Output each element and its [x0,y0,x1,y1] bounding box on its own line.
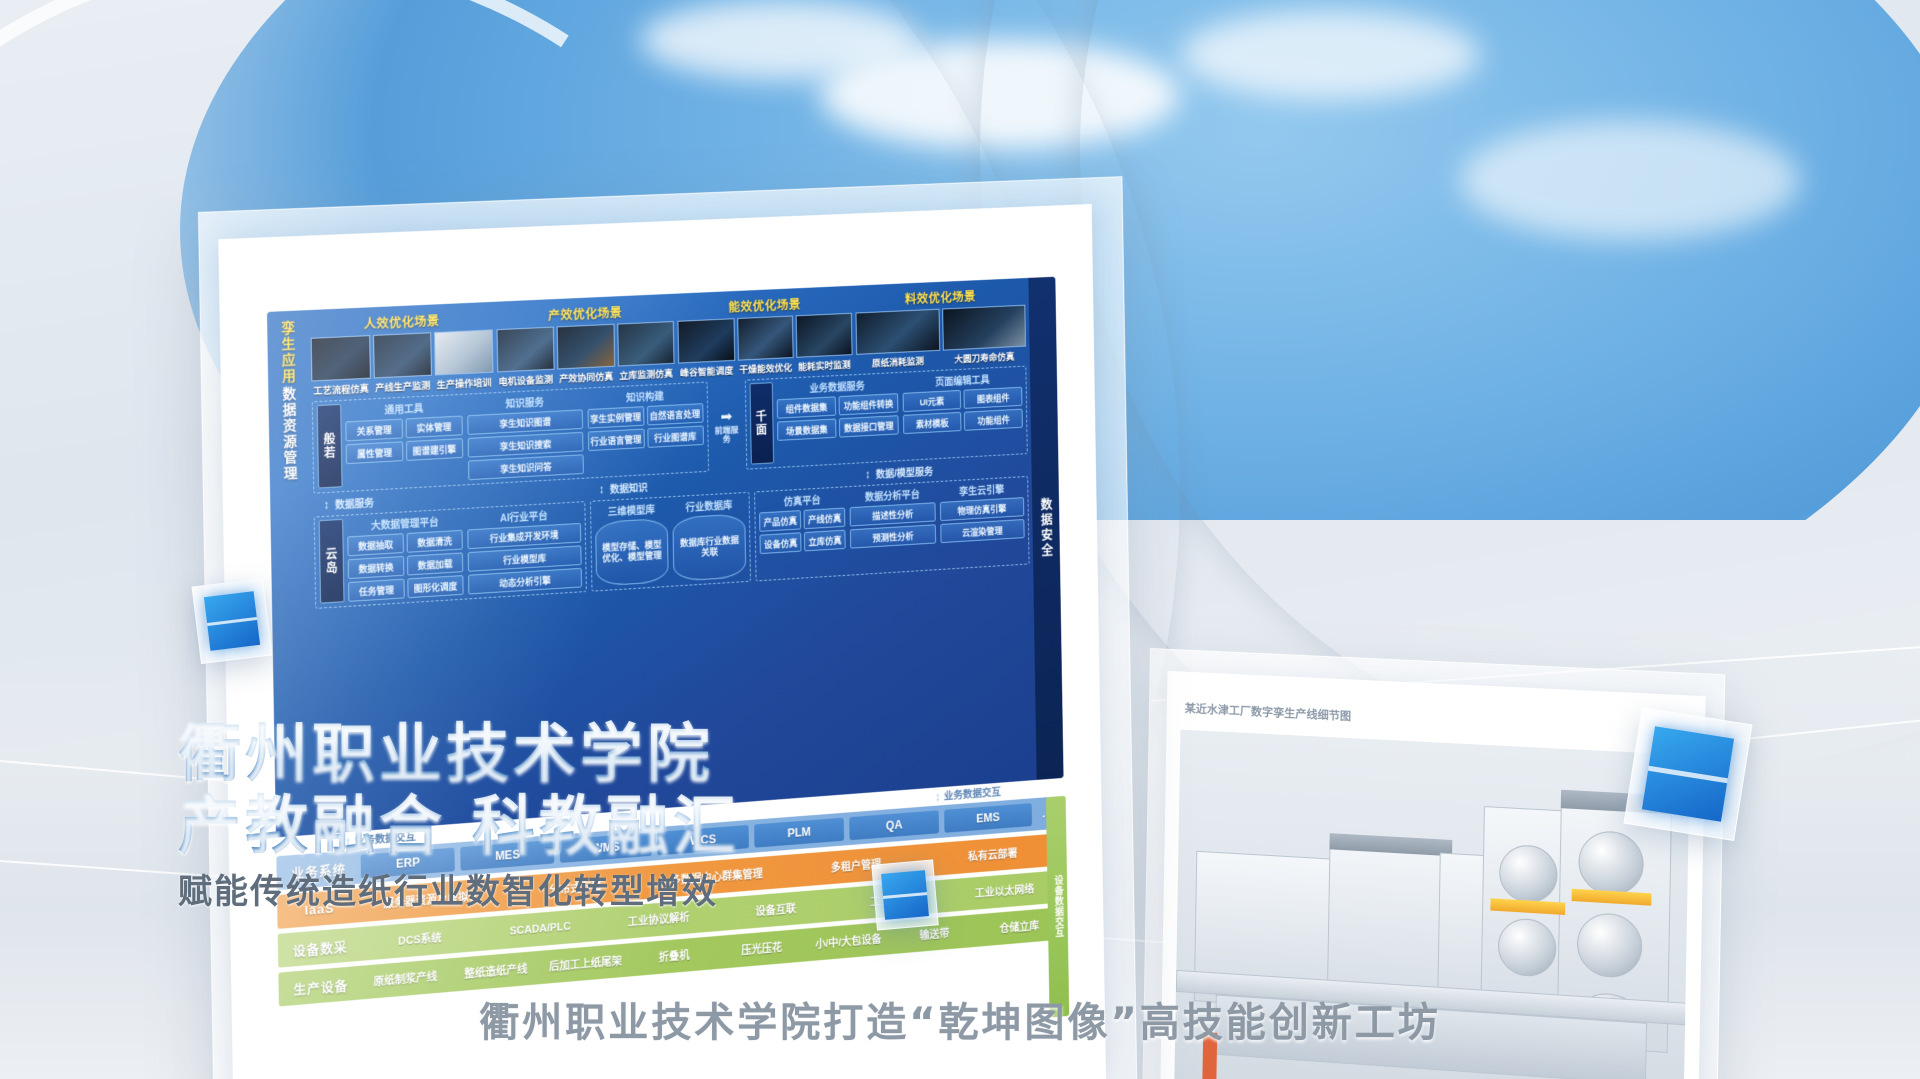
scene-thumb[interactable]: 产效协同仿真 [557,324,615,385]
chip[interactable]: 属性管理 [346,441,404,464]
group-page-editor-tools: 页面编辑工具 UI元素 图表组件 素材模板 功能组件 [902,370,1023,457]
group-twin-cloud-engine: 孪生云引擎 物理仿真引擎 云渲染管理 [939,480,1025,565]
front-service-label: 前端服务 [713,426,741,445]
chip[interactable]: 功能组件转换 [839,393,898,415]
group-header: 三维模型库 [595,500,668,519]
scene-thumb-image [557,324,615,370]
scene-thumb[interactable]: 原纸消耗监测 [855,309,940,371]
chip[interactable]: 立库仿真 [804,530,846,552]
scene-thumb[interactable]: 工艺流程仿真 [311,335,371,397]
layer-item[interactable]: 工业以太网络 [951,879,1059,903]
simulation-analysis-panel: 仿真平台 产品仿真 产线仿真 设备仿真 立库仿真 数据分析平台 [754,476,1029,582]
group-header: 行业数据库 [672,496,745,515]
chip[interactable]: 孪生实例管理 [587,406,644,428]
video-subtitle: 衢州职业技术学院打造“乾坤图像”高技能创新工坊 [0,990,1920,1048]
scene-thumb-image [617,321,675,367]
chip[interactable]: 孪生知识问答 [468,454,584,480]
diagram-white-board: 孪生应用 数据资源管理 人效优化场景 工艺流程仿真 [218,204,1106,1079]
chip[interactable]: 云渲染管理 [940,519,1025,543]
layer-item[interactable]: 折叠机 [633,945,716,968]
down-arrow-icon: ↕ [323,498,329,510]
layer-item[interactable]: PLM [754,818,844,848]
architecture-diagram: 孪生应用 数据资源管理 人效优化场景 工艺流程仿真 [267,277,1067,1078]
layer-name: 设备数采 [278,934,362,960]
layer-item[interactable]: 小/中/大包设备 [808,930,889,952]
layer-item[interactable]: 压光压花 [721,938,803,960]
headline-line-3: 赋能传统造纸行业数智化转型增效 [178,864,740,913]
cylinder-3d-model: 模型存储、模型优化、模型管理 [595,518,669,587]
chip[interactable]: 数据清洗 [406,530,462,553]
scene-thumb-caption: 峰谷智能调度 [678,363,735,379]
scene-thumb[interactable]: 大圆刀寿命仿真 [942,305,1026,366]
device-data-exchange-bar: 设备数据交互 [1046,796,1069,1018]
scene-thumb[interactable]: 峰谷智能调度 [677,318,734,379]
headline-line-2: 产教融合 科教融汇 [178,790,740,862]
chip[interactable]: 数据转换 [348,556,405,579]
layer-item[interactable]: EMS [944,803,1032,833]
scene-group: 能效优化场景 峰谷智能调度 干燥能效优化 [677,292,852,380]
floating-cube [871,859,939,930]
chip[interactable]: 行业图谱库 [647,425,704,447]
data-knowledge-label: 数据知识 [610,479,648,496]
chip[interactable]: 描述性分析 [850,502,935,526]
yundao-panel: 云岛 大数据管理平台 数据抽取 数据清洗 数据转换 数据加载 [314,501,587,609]
chip[interactable]: 动态分析引擎 [468,568,582,595]
group-header: 数据分析平台 [850,485,935,504]
chip[interactable]: 关系管理 [345,419,403,442]
model-db-panel: 三维模型库 模型存储、模型优化、模型管理 行业数据库 数据库行业数据关联 [590,492,751,592]
scene-thumb[interactable]: 立库监测仿真 [617,321,675,382]
group-business-data-service: 业务数据服务 组件数据集 功能组件转换 场景数据集 数据接口管理 [776,376,899,463]
scene-thumb-caption: 原纸消耗监测 [856,353,940,371]
scene-thumb[interactable]: 电机设备监测 [496,327,555,389]
up-arrow-icon: ↕ [598,483,604,495]
group-ai-industry-platform: AI行业平台 行业集成开发环境 行业模型库 动态分析引擎 [467,505,582,594]
layer-item[interactable]: DCS系统 [362,927,478,952]
chip[interactable]: 素材模板 [903,412,962,434]
cube-core [1642,727,1733,822]
data-model-service-label: 数据/模型服务 [876,463,933,481]
panruo-badge: 般若 [317,404,343,489]
chip[interactable]: 预测性分析 [850,524,935,548]
chip[interactable]: 产线仿真 [804,508,846,530]
chip[interactable]: 场景数据集 [777,418,837,440]
scene-thumb-caption: 产线生产监测 [373,378,432,395]
chip[interactable]: 数据加载 [407,552,463,575]
data-security-label: 数据安全 [1037,497,1055,559]
chip[interactable]: 图表组件 [964,387,1023,409]
qianmian-panel: 千面 业务数据服务 组件数据集 功能组件转换 场景数据集 数据接口管理 [744,366,1027,470]
chip[interactable]: 数据接口管理 [839,415,898,437]
layer-item[interactable]: SCADA/PLC [483,919,597,940]
scene-thumb-caption: 大圆刀寿命仿真 [943,348,1027,365]
scene-thumb-caption: 电机设备监测 [497,372,555,389]
scene-thumb-image [373,332,432,378]
chip[interactable]: 图形化调度 [407,575,463,598]
scene-thumb[interactable]: 产线生产监测 [373,332,433,394]
chip[interactable]: 物理仿真引擎 [940,497,1025,521]
device-data-exchange-label: 设备数据交互 [1050,875,1064,939]
scene-thumb-image [677,318,734,363]
chip[interactable]: 行业集成开发环境 [467,523,581,549]
chip[interactable]: 实体管理 [405,416,462,439]
group-simulation-platform: 仿真平台 产品仿真 产线仿真 设备仿真 立库仿真 [759,490,846,576]
scene-group: 料效优化场景 原纸消耗监测 大圆刀寿命仿真 [855,284,1027,371]
chip[interactable]: 数据抽取 [347,533,404,556]
scene-thumb-image [434,329,493,375]
group-3d-model-library: 三维模型库 模型存储、模型优化、模型管理 [595,500,670,586]
chip[interactable]: 功能组件 [964,409,1023,431]
scene-group: 产效优化场景 电机设备监测 产效协同仿真 [496,300,675,389]
chip[interactable]: 图谱建引擎 [406,438,463,461]
group-bigdata-platform: 大数据管理平台 数据抽取 数据清洗 数据转换 数据加载 任务管理 图形化调度 [347,512,463,602]
group-knowledge-construction: 知识构建 孪生实例管理 自然语言处理 行业语言管理 行业图谱库 [587,386,704,474]
scene-thumb-caption: 干燥能效优化 [738,360,794,376]
scene-thumb[interactable]: 生产操作培训 [434,329,493,391]
yundao-badge: 云岛 [319,519,345,604]
panruo-panel: 般若 通用工具 关系管理 实体管理 属性管理 图谱建引擎 [312,382,709,494]
scene-thumb-image [942,305,1026,351]
scene-thumb-caption: 能耗实时监测 [796,357,852,373]
scene-thumb-caption: 产效协同仿真 [557,369,615,386]
scene-thumb-image [855,309,940,355]
layer-item[interactable]: QA [849,810,938,840]
cube-core [881,870,928,920]
layer-item[interactable]: 原纸制浆产线 [363,967,448,990]
scene-thumb[interactable]: 干燥能效优化 [737,315,794,376]
group-header: 仿真平台 [759,490,845,509]
data-service-arrow: ➡ 前端服务 [712,380,741,472]
chip[interactable]: 孪生知识图谱 [467,409,583,435]
headline-line-1: 衢州职业技术学院 [178,718,740,790]
group-general-tools: 通用工具 关系管理 实体管理 属性管理 图谱建引擎 [345,398,463,487]
chip[interactable]: 自然语言处理 [647,403,704,425]
chip[interactable]: 组件数据集 [776,396,836,418]
group-data-analysis-platform: 数据分析平台 描述性分析 预测性分析 [850,485,937,571]
scene-thumb-caption: 工艺流程仿真 [311,381,370,398]
scene-thumb-caption: 生产操作培训 [435,375,493,392]
group-industry-database: 行业数据库 数据库行业数据关联 [672,496,746,582]
layer-item[interactable]: 后加工上纸尾架 [544,952,628,975]
chip[interactable]: 孪生知识搜索 [467,432,583,458]
group-knowledge-service: 知识服务 孪生知识图谱 孪生知识搜索 孪生知识问答 [467,392,584,480]
layer-item[interactable]: 整纸造纸产线 [454,960,539,983]
group-header: 孪生云引擎 [939,480,1023,499]
scene-thumb-image [311,335,371,381]
scene-thumb[interactable]: 能耗实时监测 [796,313,853,373]
qianmian-badge: 千面 [749,382,774,464]
data-resource-management-label: 数据资源管理 [282,386,298,482]
scene-thumb-image [796,313,852,358]
layer-item[interactable]: 私有云部署 [927,842,1058,868]
chip[interactable]: 设备仿真 [760,532,802,554]
chip[interactable]: 任务管理 [348,579,405,602]
up-arrow-icon: ↕ [865,468,871,480]
cylinder-industry-db: 数据库行业数据关联 [673,513,747,581]
chip[interactable]: UI元素 [902,390,961,412]
floating-cube [192,578,273,664]
data-service-label: 数据服务 [335,494,374,511]
headline-block: 衢州职业技术学院 产教融合 科教融汇 赋能传统造纸行业数智化转型增效 [178,718,740,913]
cube-core [204,591,261,651]
architecture-diagram-panel: 孪生应用 数据资源管理 人效优化场景 工艺流程仿真 [198,176,1138,1079]
scene-thumb-caption: 立库监测仿真 [618,366,675,382]
chip[interactable]: 产品仿真 [759,510,801,532]
photo-label: 某近水津工厂数字孪生产线细节图 [1185,700,1352,724]
updown-arrow-icon: ↕ [935,790,941,804]
floating-cube [1623,707,1752,841]
chip[interactable]: 行业语言管理 [587,429,644,452]
twin-application-label: 孪生应用 [281,321,297,385]
scene-thumb-image [496,327,554,373]
scene-thumb-image [737,315,794,360]
scene-group: 人效优化场景 工艺流程仿真 产线生产监测 [310,308,493,398]
